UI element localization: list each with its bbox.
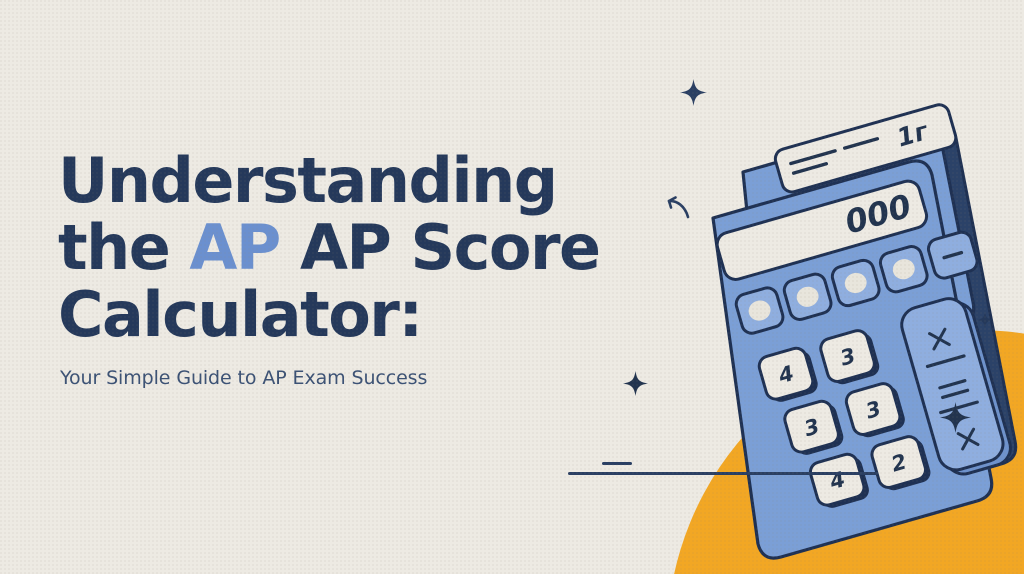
sparkle-small-right-icon: [977, 312, 993, 328]
headline-line-1: Understanding: [58, 144, 557, 217]
sparkle-on-yellow-icon: [940, 402, 971, 433]
page-title: Understanding the AP AP Score Calculator…: [58, 148, 618, 349]
sparkle-top-icon: [680, 79, 707, 106]
sparkle-left-icon: [623, 371, 648, 396]
calculator-illustration: 1г 000: [655, 120, 995, 500]
ground-line: [568, 472, 878, 475]
headline-accent-ap: AP: [189, 211, 279, 284]
ground-dash: [602, 462, 632, 465]
banner-root: Understanding the AP AP Score Calculator…: [0, 0, 1024, 574]
headline-line-3: Calculator:: [58, 278, 422, 351]
headline-line-2-post: AP Score: [280, 211, 600, 284]
headline-line-2-pre: the: [58, 211, 189, 284]
curved-arrow-icon: [666, 193, 698, 228]
page-subtitle: Your Simple Guide to AP Exam Success: [60, 367, 618, 389]
text-block: Understanding the AP AP Score Calculator…: [58, 148, 618, 389]
